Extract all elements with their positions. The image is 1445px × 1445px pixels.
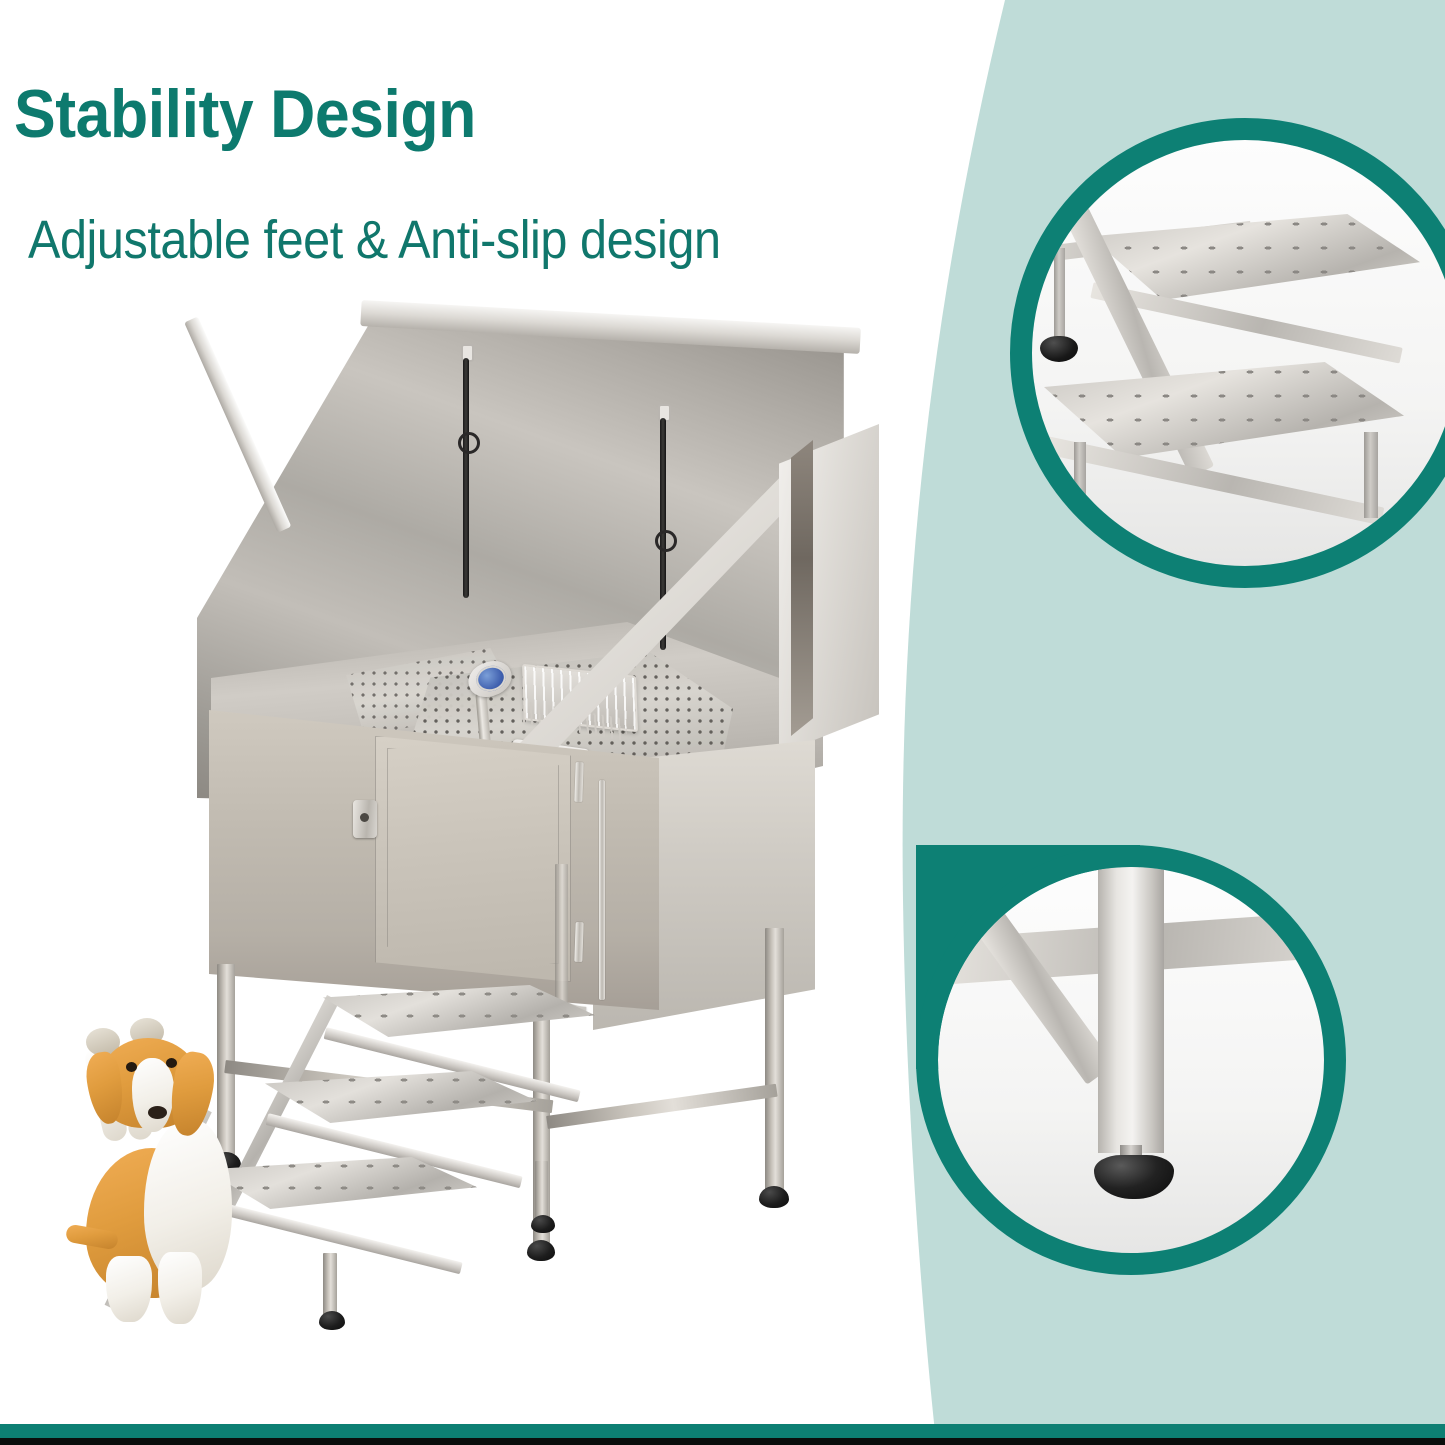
inset-anti-slip-steps	[1010, 118, 1445, 588]
page-title: Stability Design	[14, 80, 476, 148]
dog-eye-right	[166, 1058, 177, 1068]
stair-adjustable-foot-rear	[531, 1215, 555, 1233]
cabinet-door-lock	[353, 800, 377, 838]
cabinet-hinge-bottom	[574, 922, 583, 962]
inset-adjustable-foot	[916, 845, 1346, 1275]
dog-hind-leg-right	[158, 1252, 202, 1324]
page-subtitle: Adjustable feet & Anti-slip design	[28, 213, 721, 267]
restraint-leash-left	[463, 358, 469, 598]
leash-ring-left	[458, 432, 480, 454]
stair-leg-front	[323, 1253, 337, 1315]
inset-bot-ring	[916, 845, 1346, 1275]
dog-eye-left	[126, 1062, 137, 1072]
hinged-side-door-inner	[791, 440, 813, 736]
beagle-dog	[72, 1000, 282, 1330]
dog-hind-leg-left	[106, 1256, 152, 1322]
support-leg-right	[765, 928, 784, 1190]
dog-nose	[148, 1106, 167, 1119]
leash-ring-right	[655, 530, 677, 552]
footer-edge-bar	[0, 1438, 1445, 1445]
stair-tread-top	[323, 985, 595, 1037]
adjustable-foot-right	[759, 1186, 789, 1208]
stair-leg-rear	[535, 1161, 548, 1219]
backsplash-left-rail	[184, 316, 291, 532]
poster-canvas: Stability Design Adjustable feet & Anti-…	[0, 0, 1445, 1445]
cabinet-edge-trim	[599, 780, 605, 1000]
footer-accent-bar	[0, 1424, 1445, 1438]
cabinet-door-panel-inset	[387, 748, 559, 964]
stair-adjustable-foot-front	[319, 1311, 345, 1330]
cabinet-hinge-top	[574, 762, 583, 802]
